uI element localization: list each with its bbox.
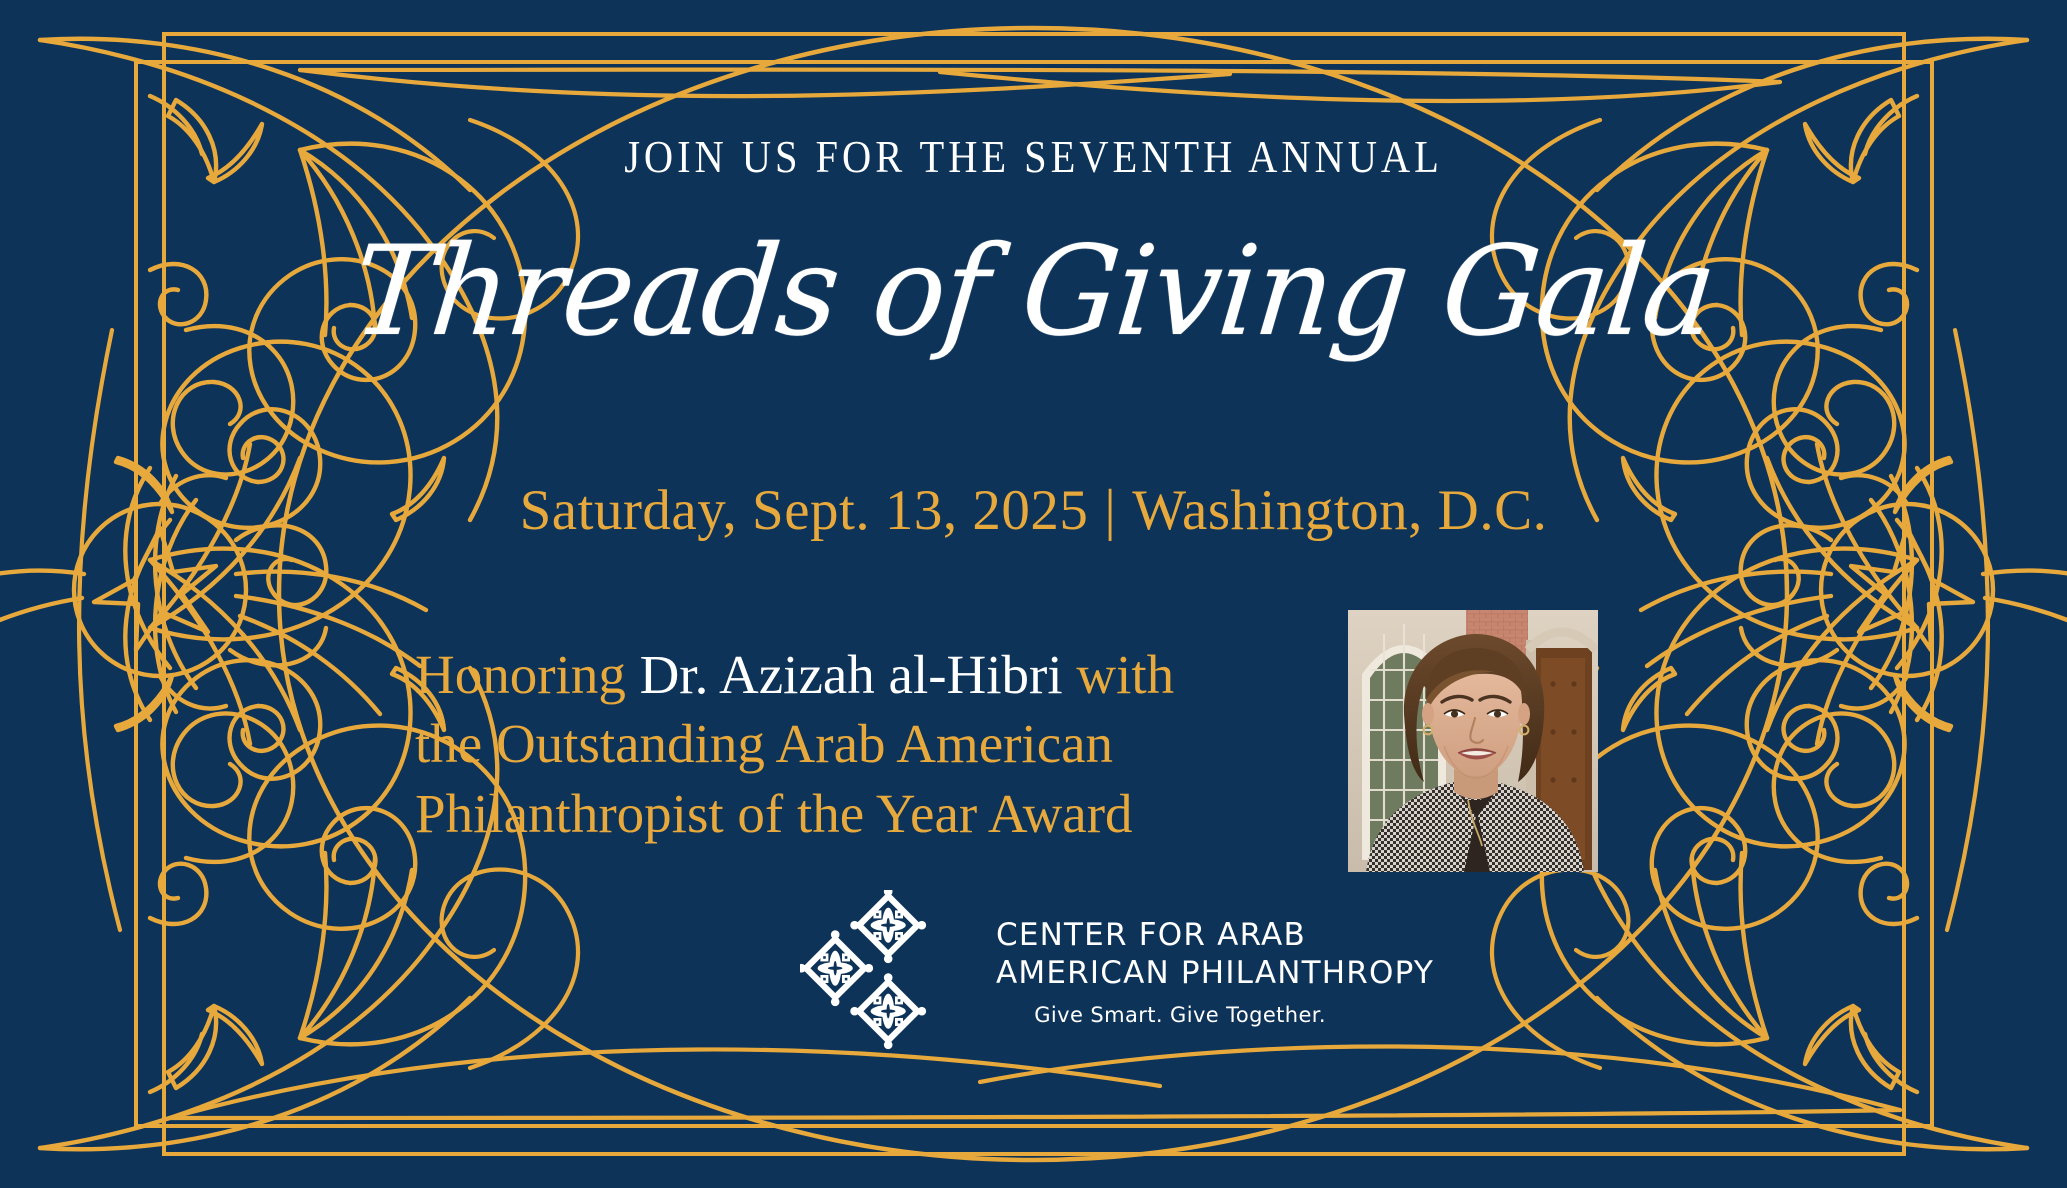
org-name-line-1: CENTER FOR ARAB	[996, 916, 1434, 954]
award-line-3: Philanthropist of the Year Award	[415, 783, 1133, 844]
award-line-2: the Outstanding Arab American	[415, 713, 1113, 774]
event-title: Threads of Giving Gala	[23, 215, 2044, 370]
kicker-text: JOIN US FOR THE SEVENTH ANNUAL	[124, 130, 1943, 183]
event-location: Washington, D.C.	[1132, 479, 1547, 542]
event-date: Saturday, Sept. 13, 2025	[520, 479, 1089, 542]
organization-tagline: Give Smart. Give Together.	[996, 1003, 1326, 1027]
honoree-portrait	[1348, 610, 1598, 872]
organization-logo: CENTER FOR ARAB AMERICAN PHILANTHROPY Gi…	[800, 890, 1320, 1065]
award-line-1: with	[1063, 644, 1175, 705]
invitation-canvas: JOIN US FOR THE SEVENTH ANNUAL Threads o…	[0, 0, 2067, 1188]
three-diamond-compass-mark	[800, 890, 1000, 1065]
event-details-line: Saturday, Sept. 13, 2025|Washington, D.C…	[0, 478, 2067, 543]
detail-separator: |	[1088, 479, 1132, 542]
honoree-name: Dr. Azizah al-Hibri	[640, 644, 1063, 705]
honoring-lead: Honoring	[415, 644, 640, 705]
portrait-illustration	[1348, 610, 1598, 872]
org-name-line-2: AMERICAN PHILANTHROPY	[996, 954, 1434, 992]
organization-name: CENTER FOR ARAB AMERICAN PHILANTHROPY	[996, 916, 1434, 993]
honoree-statement: Honoring Dr. Azizah al-Hibri with the Ou…	[415, 640, 1335, 848]
